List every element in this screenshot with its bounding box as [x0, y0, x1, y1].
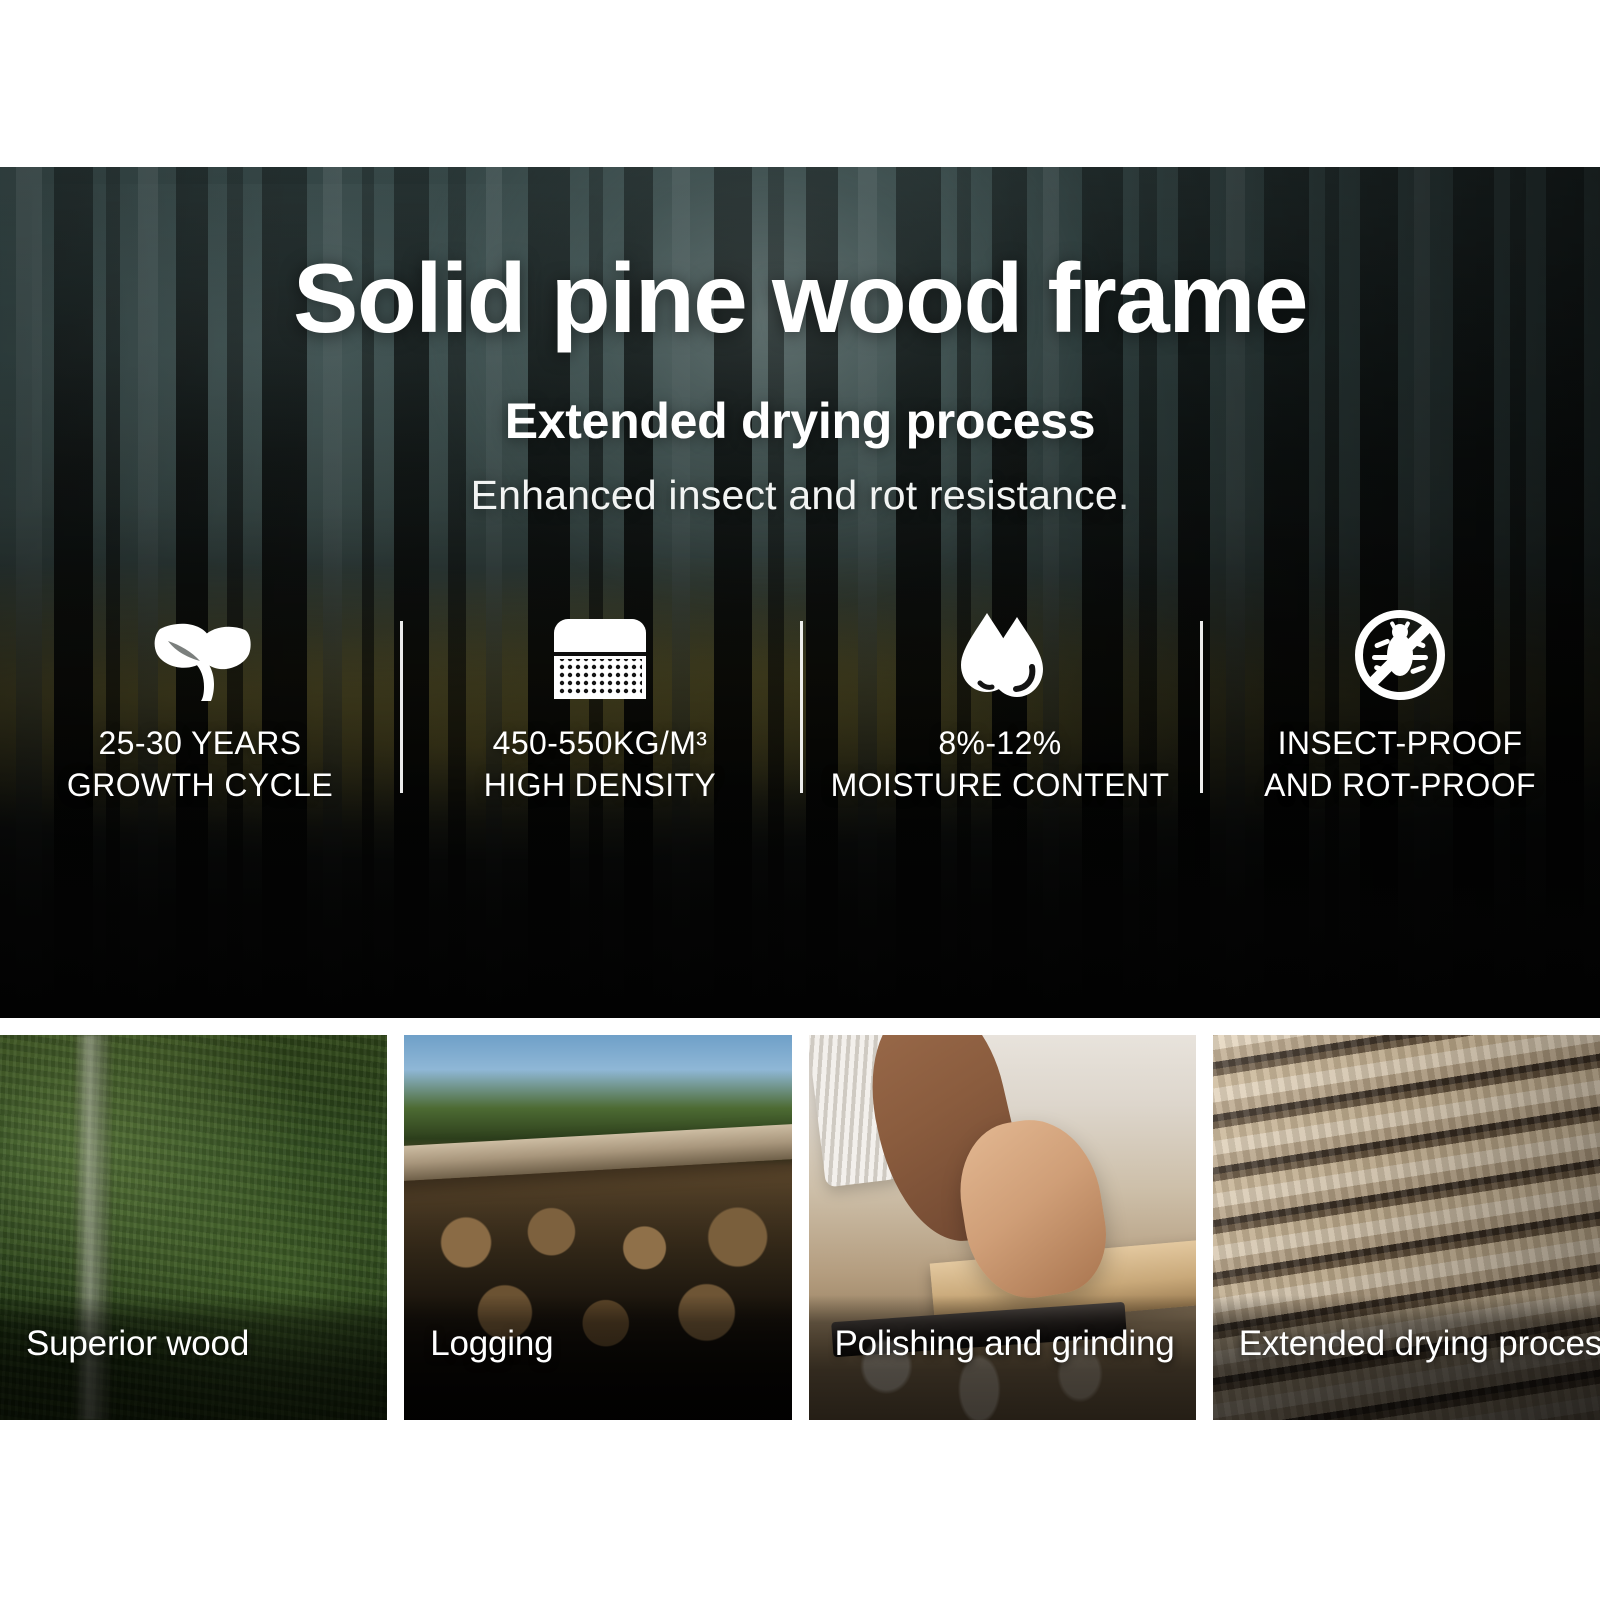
gallery-item-extended-drying-process[interactable]: Extended drying process	[1213, 1035, 1600, 1420]
gallery-caption: Logging	[404, 1295, 791, 1420]
gallery-caption: Extended drying process	[1213, 1295, 1600, 1420]
gallery-item-logging[interactable]: Logging	[404, 1035, 791, 1420]
process-gallery: Superior wood Logging Polishing and grin…	[0, 1035, 1600, 1420]
feature-line-1: 8%-12%	[831, 723, 1170, 765]
feature-line-1: INSECT-PROOF	[1264, 723, 1536, 765]
feature-high-density: 450-550KG/M³ HIGH DENSITY	[400, 607, 800, 827]
feature-line-1: 450-550KG/M³	[484, 723, 716, 765]
feature-label: 8%-12% MOISTURE CONTENT	[831, 723, 1170, 806]
leaf-icon	[148, 607, 252, 703]
no-insect-icon	[1352, 607, 1448, 703]
gallery-item-superior-wood[interactable]: Superior wood	[0, 1035, 387, 1420]
gallery-caption-text: Polishing and grinding	[835, 1324, 1175, 1364]
gallery-caption-text: Superior wood	[26, 1324, 249, 1364]
feature-label: 450-550KG/M³ HIGH DENSITY	[484, 723, 716, 806]
feature-line-1: 25-30 YEARS	[67, 723, 333, 765]
feature-line-2: GROWTH CYCLE	[67, 765, 333, 807]
hero-banner: Solid pine wood frame Extended drying pr…	[0, 167, 1600, 1018]
feature-list: 25-30 YEARS GROWTH CYCLE	[0, 607, 1600, 827]
hero-subtitle: Extended drying process	[0, 392, 1600, 450]
hero-tagline: Enhanced insect and rot resistance.	[0, 472, 1600, 519]
hero-copy: Solid pine wood frame Extended drying pr…	[0, 167, 1600, 1018]
gallery-caption-text: Logging	[430, 1324, 553, 1364]
water-droplets-icon	[951, 607, 1049, 703]
feature-moisture-content: 8%-12% MOISTURE CONTENT	[800, 607, 1200, 827]
gallery-caption-text: Extended drying process	[1239, 1324, 1600, 1364]
density-block-icon	[550, 607, 650, 703]
feature-line-2: MOISTURE CONTENT	[831, 765, 1170, 807]
gallery-caption: Superior wood	[0, 1295, 387, 1420]
page-title: Solid pine wood frame	[0, 249, 1600, 347]
gallery-caption: Polishing and grinding	[809, 1295, 1196, 1420]
feature-growth-cycle: 25-30 YEARS GROWTH CYCLE	[0, 607, 400, 827]
feature-line-2: AND ROT-PROOF	[1264, 765, 1536, 807]
feature-label: 25-30 YEARS GROWTH CYCLE	[67, 723, 333, 806]
feature-label: INSECT-PROOF AND ROT-PROOF	[1264, 723, 1536, 806]
feature-line-2: HIGH DENSITY	[484, 765, 716, 807]
feature-insect-rot-proof: INSECT-PROOF AND ROT-PROOF	[1200, 607, 1600, 827]
gallery-item-polishing-and-grinding[interactable]: Polishing and grinding	[809, 1035, 1196, 1420]
